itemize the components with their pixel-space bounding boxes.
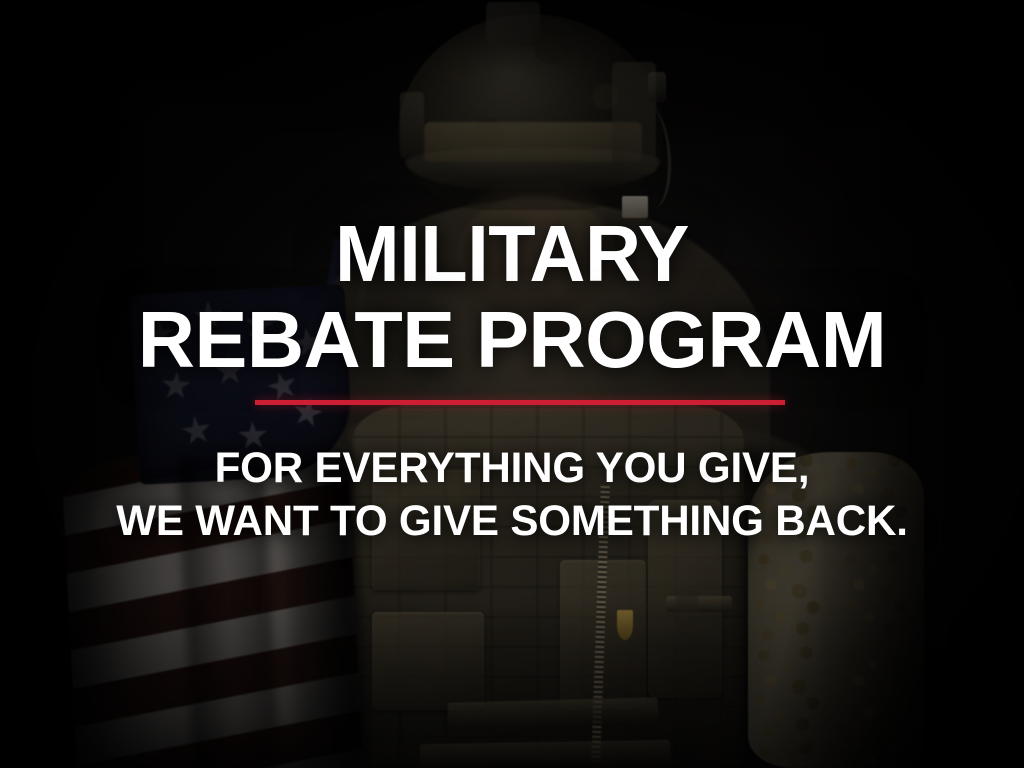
military-rebate-poster: MILITARY REBATE PROGRAM FOR EVERYTHING Y… (0, 0, 1024, 768)
night-vision-mount-icon (486, 2, 540, 46)
flag-star-icon (214, 355, 246, 387)
flag-star-icon (179, 414, 213, 448)
soldier-photo (0, 0, 1024, 768)
helmet-rail-left (400, 92, 424, 158)
american-flag-icon (42, 282, 367, 768)
face-covering-icon (458, 196, 614, 314)
flag-star-icon (193, 300, 225, 332)
flag-star-icon (264, 368, 301, 405)
comms-knob-icon (648, 72, 666, 102)
marpat-camo-sleeve (748, 452, 924, 768)
flag-star-icon (237, 420, 269, 452)
vest-strap (448, 697, 659, 728)
flag-star-icon (160, 370, 192, 402)
camo-pattern (748, 452, 924, 768)
flag-star-icon (291, 325, 326, 360)
flag-star-icon (290, 395, 325, 430)
helmet-patch (622, 196, 648, 218)
vest-strap (420, 740, 670, 766)
flag-star-icon (242, 309, 275, 342)
flag-fold (177, 452, 280, 768)
vest-pouch (372, 470, 480, 590)
vest-pouch (372, 612, 484, 710)
rifle-barrel (676, 590, 698, 768)
helmet-cable (628, 104, 671, 208)
yellow-pull-tab-icon (617, 610, 633, 640)
flag-star-icon (144, 319, 176, 351)
